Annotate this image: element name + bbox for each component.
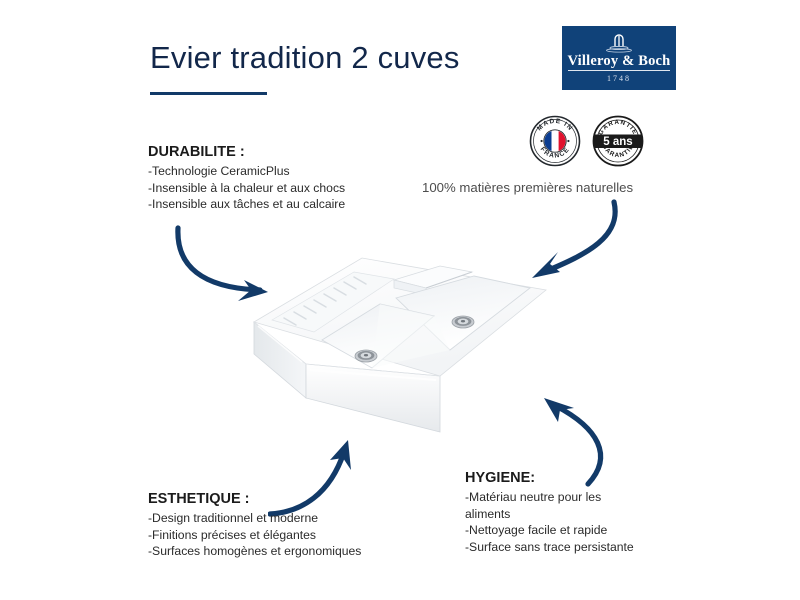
- feature-line: -Nettoyage facile et rapide: [465, 522, 630, 539]
- drain-front: [355, 350, 377, 362]
- natural-materials-caption: 100% matières premières naturelles: [422, 180, 633, 195]
- french-flag-icon: [544, 130, 565, 151]
- arrow-durabilite-to-sink: [172, 222, 290, 308]
- feature-line: -Design traditionnel et moderne: [148, 510, 361, 527]
- badge-banner-text: 5 ans: [603, 136, 632, 148]
- garantie-5-ans-badge: GARANTIE GARANTIE 5 ans: [591, 114, 645, 168]
- brand-founded-year: 1748: [607, 74, 631, 83]
- feature-line: -Surface sans trace persistante: [465, 539, 630, 556]
- feature-line: -Technologie CeramicPlus: [148, 163, 345, 180]
- feature-title: DURABILITE :: [148, 144, 345, 160]
- feature-title: ESTHETIQUE :: [148, 491, 361, 507]
- feature-title: HYGIENE:: [465, 470, 630, 486]
- feature-block-esthetique: ESTHETIQUE : -Design traditionnel et mod…: [148, 491, 361, 560]
- feature-block-hygiene: HYGIENE: -Matériau neutre pour les alime…: [465, 470, 630, 555]
- feature-line: -Insensible à la chaleur et aux chocs: [148, 180, 345, 197]
- feature-line: -Finitions précises et élégantes: [148, 527, 361, 544]
- page-title: Evier tradition 2 cuves: [150, 40, 460, 76]
- arrow-natural-to-sink: [518, 196, 632, 288]
- feature-line: -Surfaces homogènes et ergonomiques: [148, 543, 361, 560]
- feature-block-durabilite: DURABILITE : -Technologie CeramicPlus -I…: [148, 144, 345, 213]
- brand-logo: Villeroy & Boch 1748: [562, 26, 676, 90]
- product-image-sink: [244, 246, 556, 452]
- infographic-page: Evier tradition 2 cuves Villeroy & Boch …: [0, 0, 800, 600]
- fountain-arch-icon: [602, 33, 636, 53]
- drain-back: [452, 316, 474, 328]
- title-underline-rule: [150, 92, 267, 95]
- made-in-france-badge: MADE IN FRANCE: [528, 114, 582, 168]
- feature-line: -Insensible aux tâches et au calcaire: [148, 196, 345, 213]
- feature-line: -Matériau neutre pour les aliments: [465, 489, 630, 522]
- brand-name: Villeroy & Boch: [568, 54, 671, 72]
